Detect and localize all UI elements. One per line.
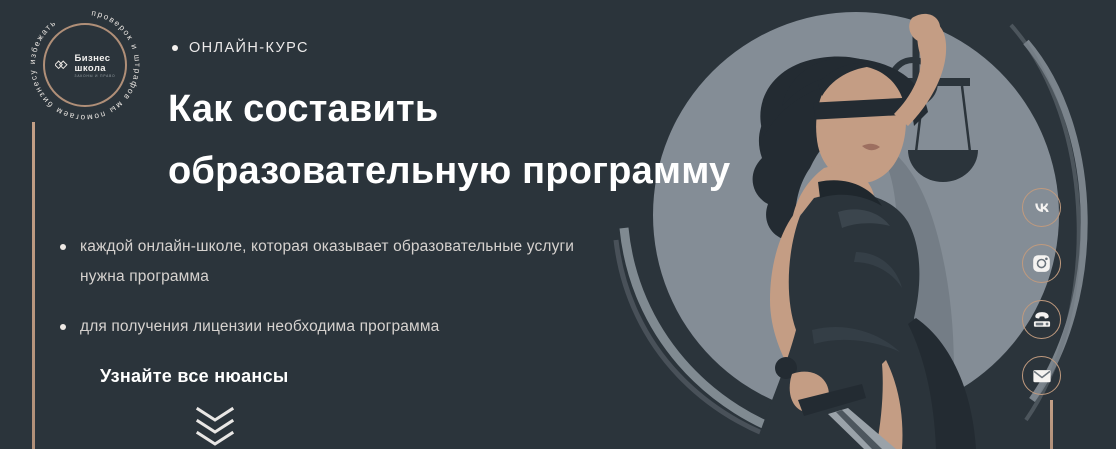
- bullet-dot-icon: [60, 244, 66, 250]
- logo-line-1: Бизнес: [75, 54, 116, 64]
- cta-label[interactable]: Узнайте все нюансы: [100, 366, 289, 387]
- list-item: для получения лицензии необходима програ…: [58, 312, 618, 342]
- social-links: [1022, 188, 1061, 395]
- benefits-list: каждой онлайн-школе, которая оказывает о…: [58, 232, 618, 342]
- logo-line-2: школа: [75, 64, 116, 74]
- vk-icon: [1031, 197, 1053, 219]
- kicker-label: ОНЛАЙН-КУРС: [189, 40, 309, 56]
- social-link-vk[interactable]: [1022, 188, 1061, 227]
- kicker: ОНЛАЙН-КУРС: [172, 40, 309, 56]
- envelope-icon: [1031, 365, 1053, 387]
- right-accent-rule: [1050, 400, 1053, 449]
- badge-logo: Бизнес школа ЗАКОНЫ И ПРАВО: [22, 2, 148, 128]
- page-title: Как составить образовательную программу: [168, 78, 808, 202]
- page-title-line-2: образовательную программу: [168, 140, 808, 202]
- interlocking-diamonds-icon: [55, 59, 70, 72]
- list-item-label: каждой онлайн-школе, которая оказывает о…: [80, 238, 574, 285]
- social-link-phone[interactable]: [1022, 300, 1061, 339]
- bullet-dot-icon: [60, 324, 66, 330]
- social-link-instagram[interactable]: [1022, 244, 1061, 283]
- instagram-icon: [1031, 253, 1052, 274]
- triple-chevron-down-icon[interactable]: [190, 405, 240, 447]
- page-title-line-1: Как составить: [168, 78, 808, 140]
- hero-banner: проверок и штрафов мы помогаем бизнесу и…: [0, 0, 1116, 449]
- bullet-dot-icon: [172, 45, 178, 51]
- telephone-icon: [1031, 309, 1053, 331]
- brand-badge[interactable]: проверок и штрафов мы помогаем бизнесу и…: [22, 2, 148, 128]
- logo-tagline: ЗАКОНЫ И ПРАВО: [75, 75, 116, 78]
- list-item: каждой онлайн-школе, которая оказывает о…: [58, 232, 618, 292]
- social-link-email[interactable]: [1022, 356, 1061, 395]
- list-item-label: для получения лицензии необходима програ…: [80, 318, 439, 335]
- left-accent-rule: [32, 122, 35, 449]
